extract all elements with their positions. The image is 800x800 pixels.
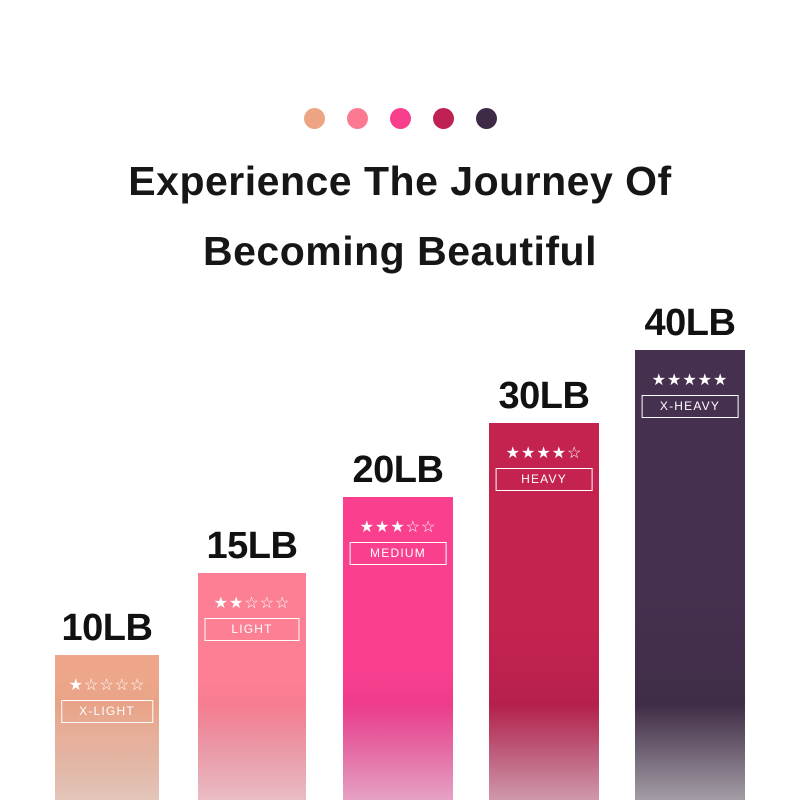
bar-20lb-badge: ★★★☆☆MEDIUM [350, 519, 447, 565]
infographic-canvas: Experience The Journey Of Becoming Beaut… [0, 0, 800, 800]
bar-40lb-sheen [635, 680, 745, 800]
resistance-band-bar-chart: ★☆☆☆☆X-LIGHT10LB★★☆☆☆LIGHT15LB★★★☆☆MEDIU… [0, 0, 800, 800]
bar-20lb-star-rating: ★★★☆☆ [350, 519, 447, 537]
bar-10lb[interactable]: ★☆☆☆☆X-LIGHT10LB [55, 655, 159, 800]
bar-40lb-fill: ★★★★★X-HEAVY [635, 350, 745, 800]
bar-30lb-star-rating: ★★★★☆ [496, 445, 593, 463]
bar-30lb-weight-label: 30LB [499, 376, 590, 416]
bar-10lb-tag-label: X-LIGHT [61, 700, 153, 723]
bar-15lb-sheen [198, 680, 306, 800]
bar-30lb[interactable]: ★★★★☆HEAVY30LB [489, 423, 599, 800]
bar-20lb-weight-label: 20LB [353, 450, 444, 490]
bar-30lb-sheen [489, 680, 599, 800]
bar-40lb-tag-label: X-HEAVY [642, 395, 739, 418]
bar-20lb-fill: ★★★☆☆MEDIUM [343, 497, 453, 800]
bar-15lb-tag-label: LIGHT [204, 618, 299, 641]
bar-15lb-badge: ★★☆☆☆LIGHT [204, 595, 299, 641]
bar-10lb-fill: ★☆☆☆☆X-LIGHT [55, 655, 159, 800]
bar-30lb-badge: ★★★★☆HEAVY [496, 445, 593, 491]
bar-30lb-tag-label: HEAVY [496, 468, 593, 491]
bar-10lb-star-rating: ★☆☆☆☆ [61, 677, 153, 695]
bar-20lb[interactable]: ★★★☆☆MEDIUM20LB [343, 497, 453, 800]
bar-40lb-badge: ★★★★★X-HEAVY [642, 372, 739, 418]
bar-20lb-sheen [343, 680, 453, 800]
bar-10lb-weight-label: 10LB [62, 608, 153, 648]
bar-15lb-fill: ★★☆☆☆LIGHT [198, 573, 306, 800]
bar-15lb-weight-label: 15LB [207, 526, 298, 566]
bar-15lb-star-rating: ★★☆☆☆ [204, 595, 299, 613]
bar-40lb-star-rating: ★★★★★ [642, 372, 739, 390]
bar-10lb-badge: ★☆☆☆☆X-LIGHT [61, 677, 153, 723]
bar-40lb-weight-label: 40LB [645, 303, 736, 343]
bar-20lb-tag-label: MEDIUM [350, 542, 447, 565]
bar-30lb-fill: ★★★★☆HEAVY [489, 423, 599, 800]
bar-15lb[interactable]: ★★☆☆☆LIGHT15LB [198, 573, 306, 800]
bar-40lb[interactable]: ★★★★★X-HEAVY40LB [635, 350, 745, 800]
